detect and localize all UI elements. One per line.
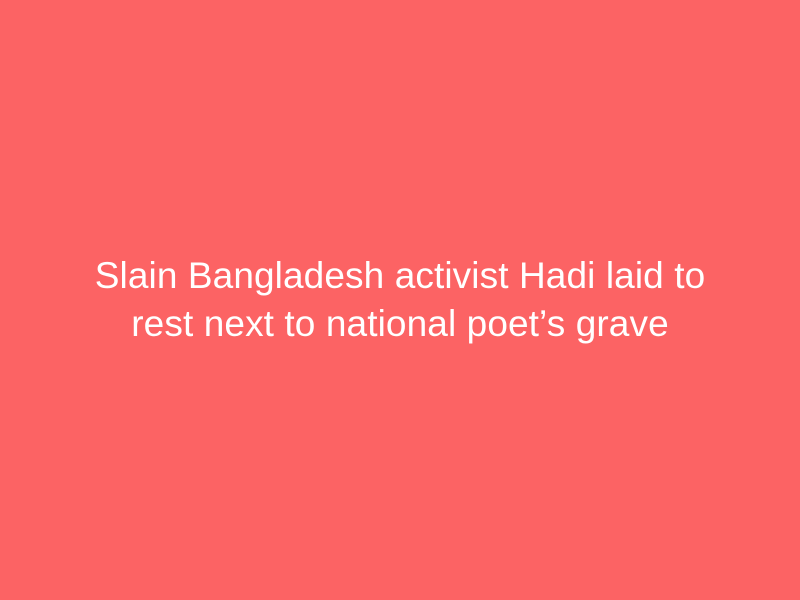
headline-block: Slain Bangladesh activist Hadi laid to r… [40, 252, 760, 348]
headline-title: Slain Bangladesh activist Hadi laid to r… [60, 252, 740, 348]
headline-card: Slain Bangladesh activist Hadi laid to r… [0, 0, 800, 600]
